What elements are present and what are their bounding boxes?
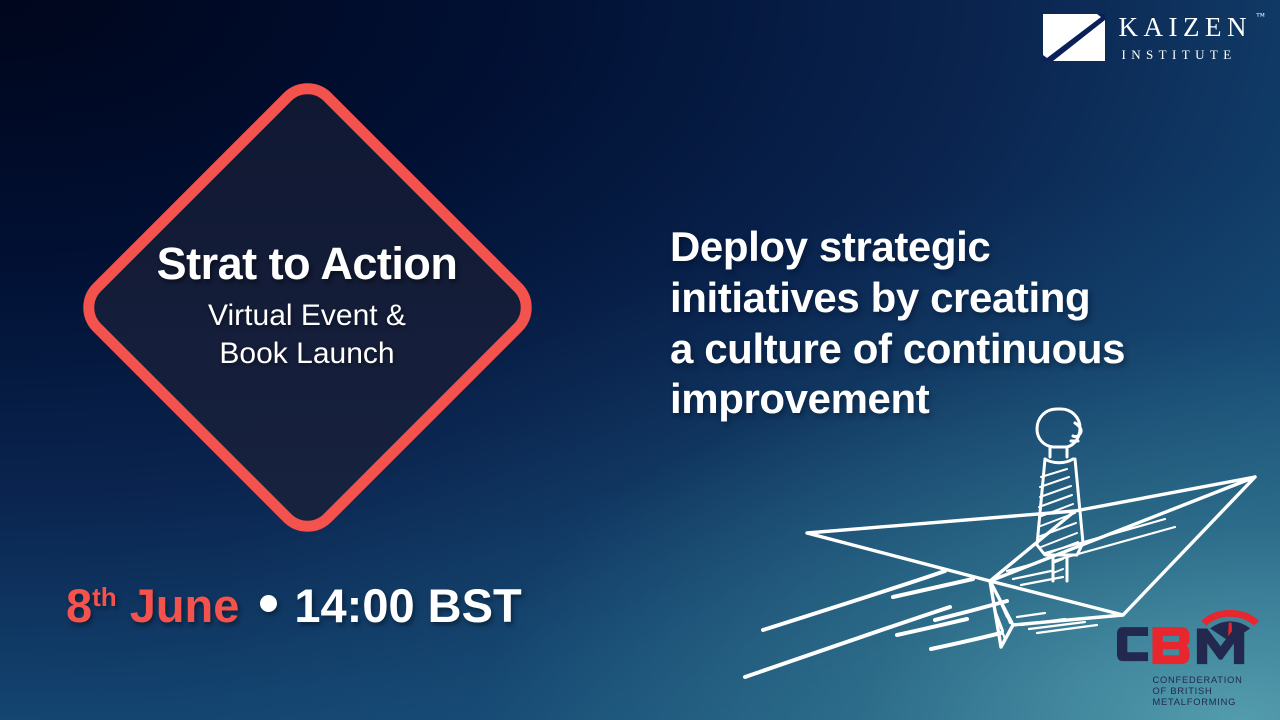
cbm-logo-icon: .: [1114, 596, 1262, 676]
headline-line-2: initiatives by creating: [670, 273, 1240, 324]
person-shading: [1038, 469, 1078, 573]
speed-lines: [745, 571, 1007, 677]
badge-subtitle-line-1: Virtual Event &: [208, 297, 406, 335]
kaizen-name-text: KAIZEN: [1119, 12, 1252, 42]
promo-banner: KAIZEN ™ INSTITUTE Strat to Action Virtu…: [0, 0, 1280, 720]
headline-line-1: Deploy strategic: [670, 222, 1240, 273]
event-diamond-badge: Strat to Action Virtual Event & Book Lau…: [72, 72, 542, 542]
cbm-line-1-text: CONFEDERATION: [1152, 675, 1242, 685]
cbm-line-3-text: METALFORMING: [1152, 697, 1236, 707]
badge-subtitle-line-2: Book Launch: [208, 335, 406, 373]
cbm-wordmark: CONFEDERATION OF BRITISH METALFORMING: [1114, 674, 1262, 708]
event-datetime: 8th June 14:00 BST: [66, 578, 522, 633]
badge-subtitle: Virtual Event & Book Launch: [208, 297, 406, 374]
cbm-line-2-text: OF BRITISH: [1152, 686, 1212, 696]
kaizen-z-mark-icon: [1043, 14, 1105, 61]
badge-title: Strat to Action: [157, 240, 458, 287]
kaizen-subtitle: INSTITUTE: [1119, 48, 1254, 61]
cbm-logo: . CONFEDERATION OF BRITISH METALFORMING: [1114, 596, 1262, 708]
headline-line-3: a culture of continuous: [670, 324, 1240, 375]
event-time: 14:00 BST: [294, 578, 521, 633]
event-day: 8: [66, 578, 92, 633]
kaizen-institute-logo: KAIZEN ™ INSTITUTE: [1043, 14, 1254, 61]
separator-dot-icon: [260, 595, 277, 612]
trademark-icon: ™: [1256, 12, 1265, 21]
event-day-ordinal: th: [92, 582, 117, 613]
kaizen-wordmark: KAIZEN ™ INSTITUTE: [1119, 14, 1254, 61]
event-month: June: [130, 578, 240, 633]
kaizen-name: KAIZEN ™: [1119, 14, 1254, 41]
diamond-content: Strat to Action Virtual Event & Book Lau…: [72, 72, 542, 542]
